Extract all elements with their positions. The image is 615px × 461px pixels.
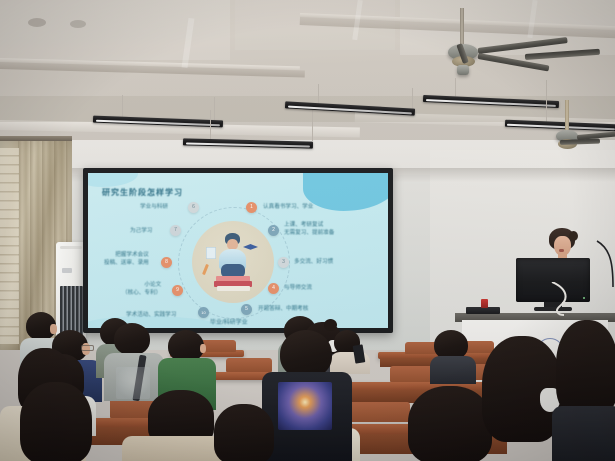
slide-item-7: 为己学习: [130, 227, 152, 235]
slide-content: 研究生阶段怎样学习 1 认真看书学习、学业 2 上课、考研复试 无: [88, 173, 388, 328]
slide-node-10: 10: [198, 307, 209, 318]
audience-person-19: [214, 404, 284, 461]
slide-item-5: 开题答辩、中期考核: [258, 305, 308, 313]
person-hair: [20, 382, 92, 461]
audience-person-17: [556, 320, 615, 461]
podium-small-red-object: [481, 299, 488, 308]
projection-screen[interactable]: 研究生阶段怎样学习 1 认真看书学习、学业 2 上课、考研复试 无: [83, 168, 393, 333]
monitor-power-led: [583, 297, 585, 299]
slide-node-5: 5: [241, 304, 252, 315]
slide-node-4: 4: [268, 283, 279, 294]
slide-node-1: 1: [246, 202, 257, 213]
presenter-hair-bun: [569, 231, 578, 241]
slide-item-bottom: 毕业/科研学业: [210, 319, 248, 328]
ac-logo: [62, 268, 72, 273]
presenter-face: [554, 236, 571, 256]
person-ear: [200, 344, 206, 353]
audience-person-18: [430, 330, 476, 382]
lecture-hall-photo: 研究生阶段怎样学习 1 认真看书学习、学业 2 上课、考研复试 无: [0, 0, 615, 461]
person-torso: [552, 406, 615, 461]
slide-orbit-ring: [178, 207, 290, 319]
person-torso: [430, 356, 476, 384]
slide-node-8: 8: [161, 257, 172, 268]
monitor-cable: [550, 282, 580, 316]
slide-blob-top-left: [88, 173, 138, 187]
slide-node-6: 6: [188, 202, 199, 213]
podium-keyboard[interactable]: [466, 307, 500, 314]
slide-blob-top-right: [303, 173, 388, 211]
slide-node-3: 3: [278, 257, 289, 268]
person-head: [280, 330, 332, 378]
audience-person-11: [6, 382, 106, 461]
person-hair: [556, 320, 615, 416]
slide-item-1: 认真看书学习、学业: [263, 203, 313, 211]
ceiling-fan-left: [0, 0, 260, 80]
slide-item-2: 上课、考研复试 无需复习、提前准备: [284, 221, 334, 238]
tshirt-graphic: [278, 382, 332, 430]
slide-item-3: 多交流、好习惯: [294, 258, 333, 266]
slide-item-6: 学业与科研: [140, 203, 168, 211]
window-blind: [0, 148, 19, 344]
curtain-rod: [0, 136, 72, 141]
slide-item-8: 把握学术会议 投稿、送审、录用: [104, 251, 149, 268]
slide-node-7: 7: [170, 225, 181, 236]
slide-title: 研究生阶段怎样学习: [102, 187, 183, 198]
presenter-mouth: [559, 249, 564, 252]
person-head: [114, 323, 150, 355]
slide-node-9: 9: [172, 285, 183, 296]
slide-item-4: 与导师交流: [284, 284, 312, 292]
slide-node-2: 2: [268, 225, 279, 236]
person-hair: [214, 404, 274, 461]
slide-item-9: 小论文 （核心、专利）: [122, 281, 161, 298]
